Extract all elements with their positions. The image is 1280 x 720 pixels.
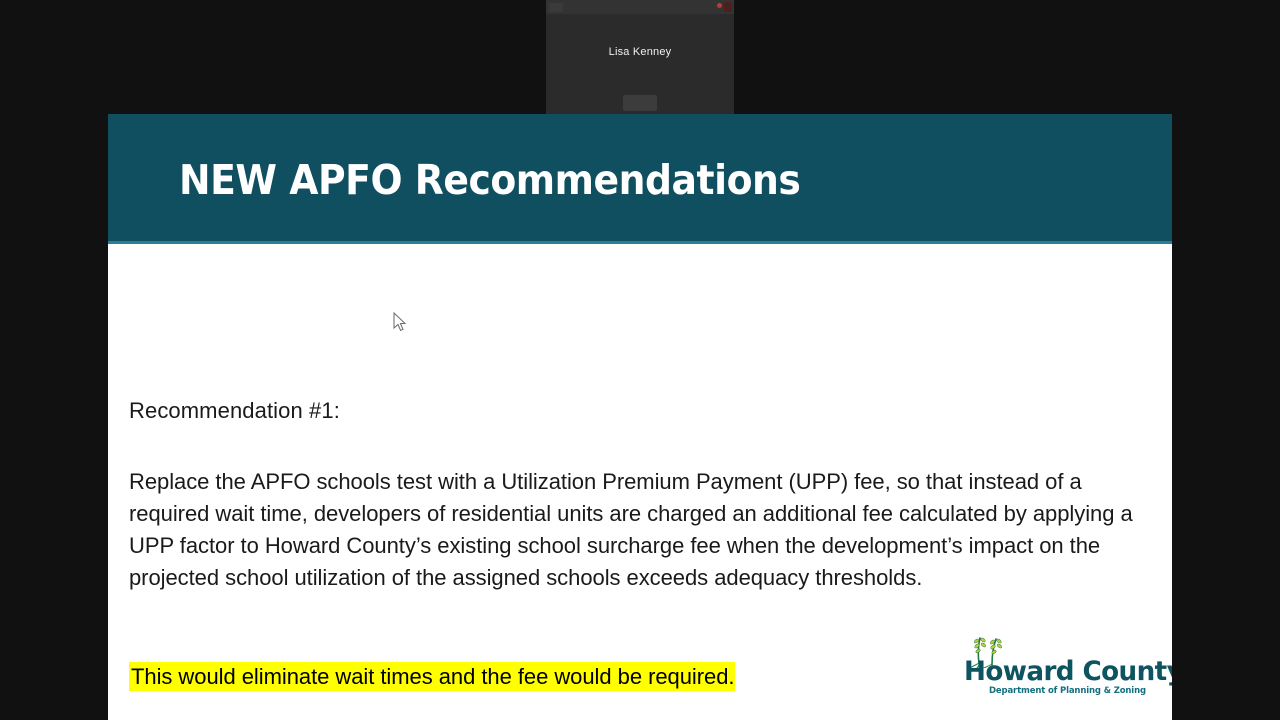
presentation-slide: NEW APFO Recommendations Recommendation …	[108, 114, 1172, 720]
howard-county-logo: Howard County Department of Planning & Z…	[961, 634, 1161, 690]
video-tile-topbar	[546, 0, 734, 14]
video-tile-right-badge[interactable]	[724, 2, 732, 12]
logo-tagline: Department of Planning & Zoning	[989, 686, 1146, 696]
screen-capture: Lisa Kenney NEW APFO Recommendations Rec…	[0, 0, 1280, 720]
participant-name-label: Lisa Kenney	[546, 46, 734, 58]
logo-wordmark: Howard County	[964, 656, 1172, 687]
slide-title: NEW APFO Recommendations	[179, 156, 800, 204]
highlighted-text: This would eliminate wait times and the …	[129, 662, 735, 691]
video-participant-tile[interactable]: Lisa Kenney	[546, 0, 734, 114]
recommendation-label: Recommendation #1:	[129, 398, 340, 424]
recording-indicator-icon	[717, 3, 722, 8]
highlight-line: This would eliminate wait times and the …	[129, 662, 735, 692]
slide-header-bar: NEW APFO Recommendations	[108, 114, 1172, 244]
recommendation-paragraph: Replace the APFO schools test with a Uti…	[129, 466, 1149, 594]
slide-body: Recommendation #1: Replace the APFO scho…	[108, 244, 1172, 720]
video-tile-left-badge[interactable]	[549, 3, 563, 12]
video-tile-action-button[interactable]	[623, 95, 657, 111]
